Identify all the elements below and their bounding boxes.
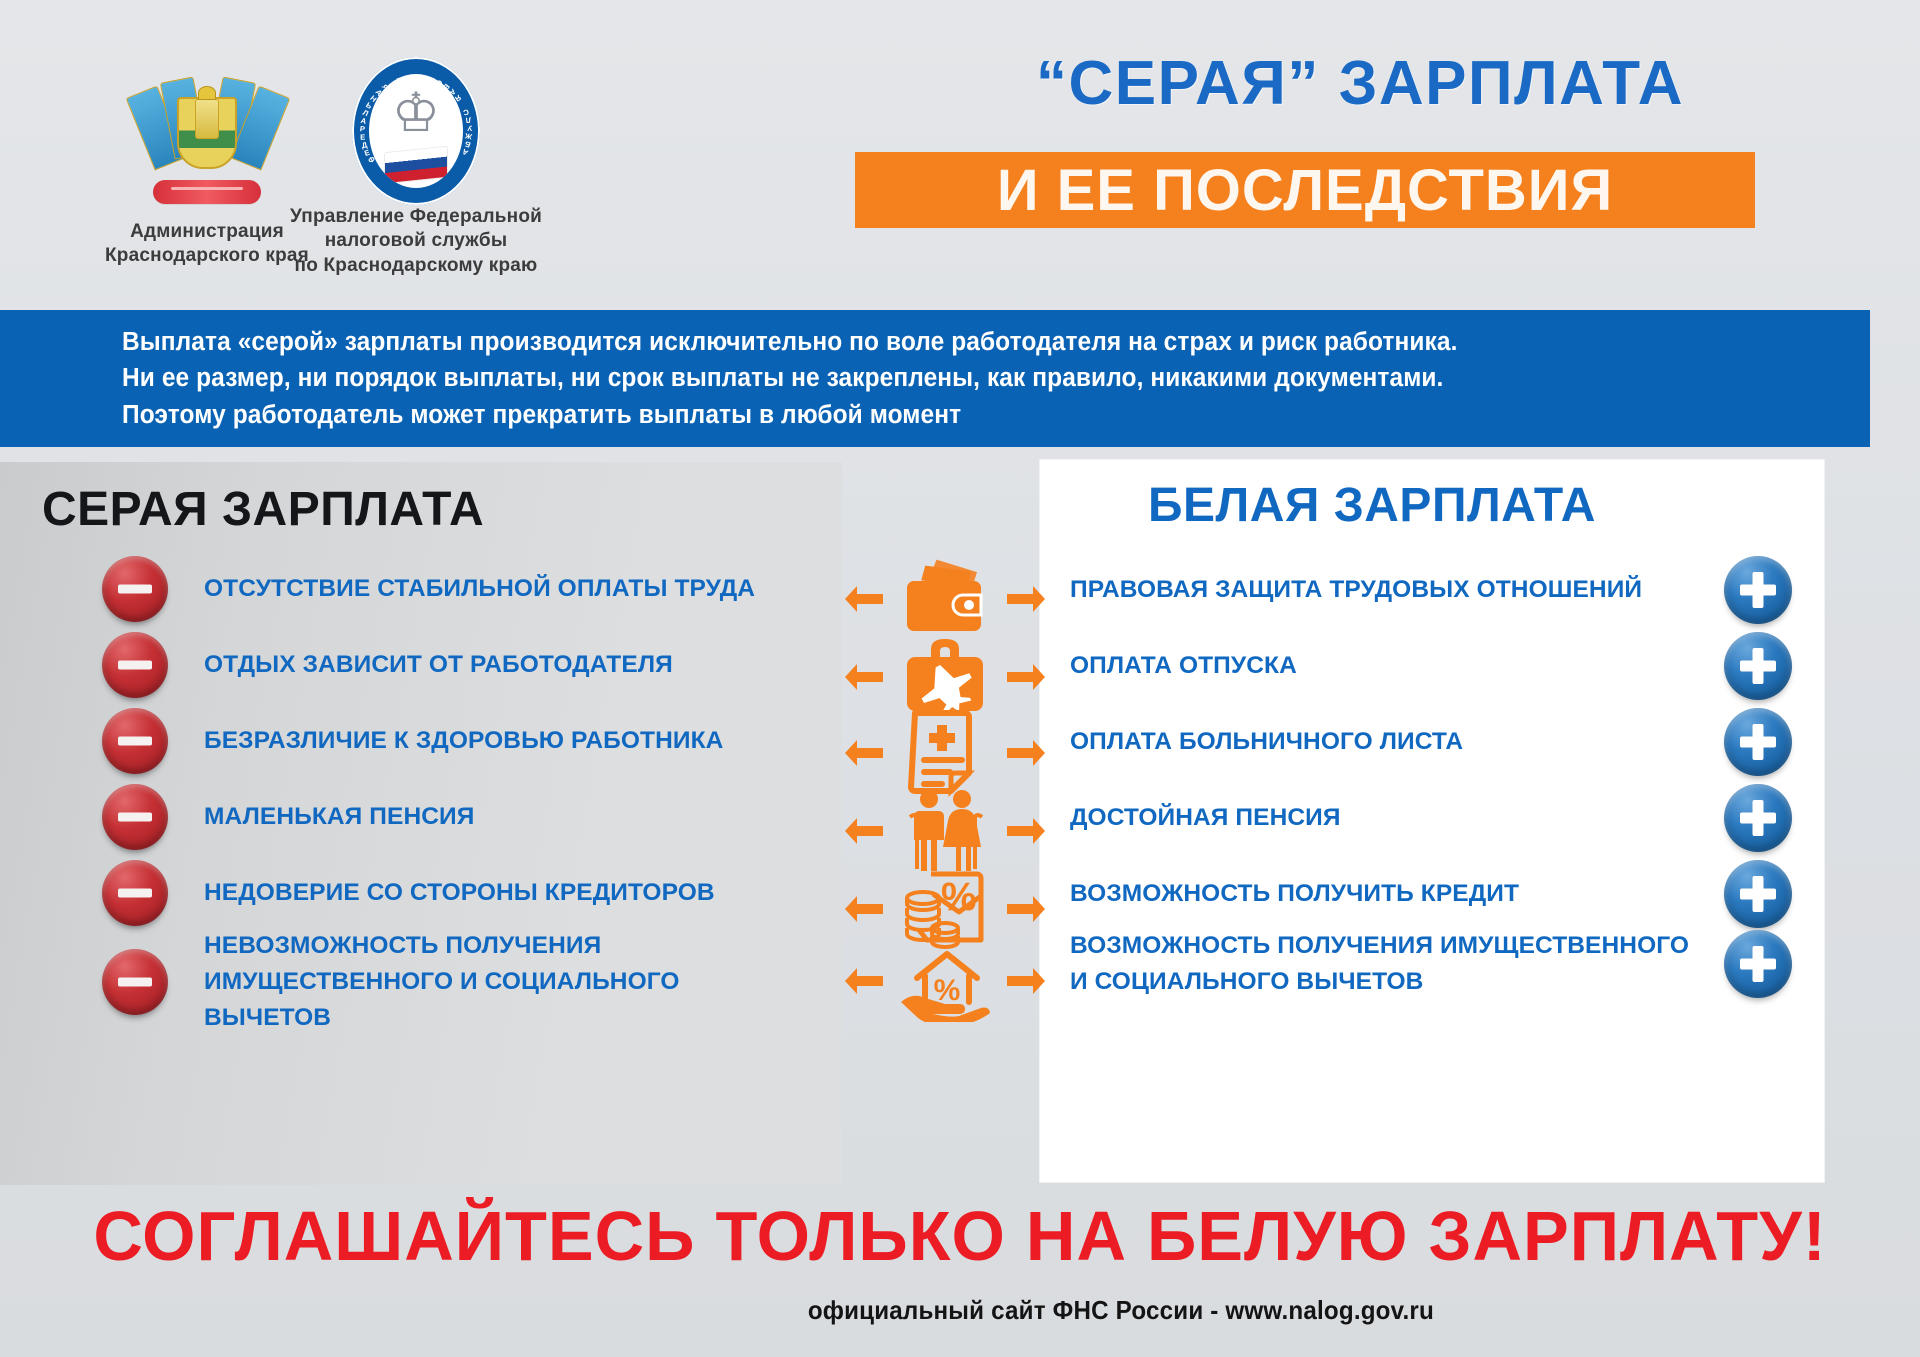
footer-site-text: официальный сайт ФНС России - www.nalog.… [808, 1295, 1434, 1326]
footer-slogan: СОГЛАШАЙТЕСЬ ТОЛЬКО НА БЕЛУЮ ЗАРПЛАТУ! [19, 1196, 1901, 1276]
arrow-right-icon [1007, 816, 1045, 846]
white-list-item-label: ОПЛАТА БОЛЬНИЧНОГО ЛИСТА [1070, 724, 1463, 760]
gray-list-item-label: БЕЗРАЗЛИЧИЕ К ЗДОРОВЬЮ РАБОТНИКА [204, 723, 723, 759]
poster-title-line2: И ЕЕ ПОСЛЕДСТВИЯ [997, 157, 1613, 224]
gray-column-heading: СЕРАЯ ЗАРПЛАТА [42, 482, 484, 537]
intro-banner-text: Выплата «серой» зарплаты производится ис… [122, 324, 1458, 433]
arrow-right-icon [1007, 584, 1045, 614]
svg-text:%: % [941, 875, 977, 919]
white-list-item: ДОСТОЙНАЯ ПЕНСИЯ [1070, 784, 1792, 852]
minus-icon [102, 784, 168, 850]
gray-list-item: ОТДЫХ ЗАВИСИТ ОТ РАБОТОДАТЕЛЯ [102, 632, 802, 698]
center-icon-row: % [845, 922, 1045, 1040]
white-list-item-label: ПРАВОВАЯ ЗАЩИТА ТРУДОВЫХ ОТНОШЕНИЙ [1070, 572, 1642, 608]
gray-list-item-label: НЕДОВЕРИЕ СО СТОРОНЫ КРЕДИТОРОВ [204, 875, 715, 911]
logo-fns-caption: Управление Федеральной налоговой службы … [266, 205, 566, 278]
poster-root: Администрация Краснодарского края ФЕДЕРА… [0, 0, 1920, 1357]
plus-icon [1724, 930, 1792, 998]
plus-icon [1724, 784, 1792, 852]
plus-icon [1724, 708, 1792, 776]
gray-list-item-label: ОТДЫХ ЗАВИСИТ ОТ РАБОТОДАТЕЛЯ [204, 647, 673, 683]
white-list-item: ОПЛАТА БОЛЬНИЧНОГО ЛИСТА [1070, 708, 1792, 776]
poster-title-bar: И ЕЕ ПОСЛЕДСТВИЯ [855, 152, 1755, 228]
russian-flag-icon [385, 147, 447, 184]
minus-icon [102, 556, 168, 622]
white-list-item-label: ДОСТОЙНАЯ ПЕНСИЯ [1070, 800, 1341, 836]
arrow-right-icon [1007, 738, 1045, 768]
white-list-item: ВОЗМОЖНОСТЬ ПОЛУЧЕНИЯ ИМУЩЕСТВЕННОГО И С… [1070, 928, 1792, 1000]
intro-banner: Выплата «серой» зарплаты производится ис… [0, 310, 1870, 447]
gray-list-item-label: ОТСУТСТВИЕ СТАБИЛЬНОЙ ОПЛАТЫ ТРУДА [204, 571, 755, 607]
white-list-item-label: ОПЛАТА ОТПУСКА [1070, 648, 1297, 684]
white-list-item-label: ВОЗМОЖНОСТЬ ПОЛУЧИТЬ КРЕДИТ [1070, 876, 1519, 912]
arrow-left-icon [845, 816, 883, 846]
logo-federal-tax-service: ФЕДЕРАЛЬНАЯ НАЛОГОВАЯ СЛУЖБА ♔ Управлени… [266, 30, 566, 278]
footer-site-line: официальный сайт ФНС России - www.nalog.… [67, 1295, 1853, 1326]
arrow-right-icon [1007, 894, 1045, 924]
arrow-left-icon [845, 584, 883, 614]
minus-icon [102, 632, 168, 698]
fns-emblem-icon: ФЕДЕРАЛЬНАЯ НАЛОГОВАЯ СЛУЖБА ♔ [266, 30, 566, 205]
gray-list-item: НЕДОВЕРИЕ СО СТОРОНЫ КРЕДИТОРОВ [102, 860, 802, 926]
white-list-item: ПРАВОВАЯ ЗАЩИТА ТРУДОВЫХ ОТНОШЕНИЙ [1070, 556, 1792, 624]
white-column-heading: БЕЛАЯ ЗАРПЛАТА [1148, 478, 1596, 533]
house-percent-in-hand-icon: % [893, 929, 997, 1033]
header: Администрация Краснодарского края ФЕДЕРА… [0, 0, 1920, 300]
poster-title-line1: “СЕРАЯ” ЗАРПЛАТА [860, 48, 1860, 119]
minus-icon [102, 949, 168, 1015]
gray-list-item: БЕЗРАЗЛИЧИЕ К ЗДОРОВЬЮ РАБОТНИКА [102, 708, 802, 774]
double-headed-eagle-icon: ♔ [392, 86, 440, 140]
plus-icon [1724, 556, 1792, 624]
white-list-item: ОПЛАТА ОТПУСКА [1070, 632, 1792, 700]
white-list-item-label: ВОЗМОЖНОСТЬ ПОЛУЧЕНИЯ ИМУЩЕСТВЕННОГО И С… [1070, 928, 1689, 1000]
gray-list-item: МАЛЕНЬКАЯ ПЕНСИЯ [102, 784, 802, 850]
arrow-right-icon [1007, 966, 1045, 996]
gray-list-item-label: НЕВОЗМОЖНОСТЬ ПОЛУЧЕНИЯ ИМУЩЕСТВЕННОГО И… [204, 928, 802, 1035]
plus-icon [1724, 860, 1792, 928]
arrow-right-icon [1007, 662, 1045, 692]
arrow-left-icon [845, 966, 883, 996]
arrow-left-icon [845, 894, 883, 924]
arrow-left-icon [845, 662, 883, 692]
gray-list-item-label: МАЛЕНЬКАЯ ПЕНСИЯ [204, 799, 474, 835]
white-list-item: ВОЗМОЖНОСТЬ ПОЛУЧИТЬ КРЕДИТ [1070, 860, 1792, 928]
arrow-left-icon [845, 738, 883, 768]
minus-icon [102, 860, 168, 926]
minus-icon [102, 708, 168, 774]
gray-list-item: ОТСУТСТВИЕ СТАБИЛЬНОЙ ОПЛАТЫ ТРУДА [102, 556, 802, 622]
gray-list-item: НЕВОЗМОЖНОСТЬ ПОЛУЧЕНИЯ ИМУЩЕСТВЕННОГО И… [102, 928, 802, 1035]
plus-icon [1724, 632, 1792, 700]
